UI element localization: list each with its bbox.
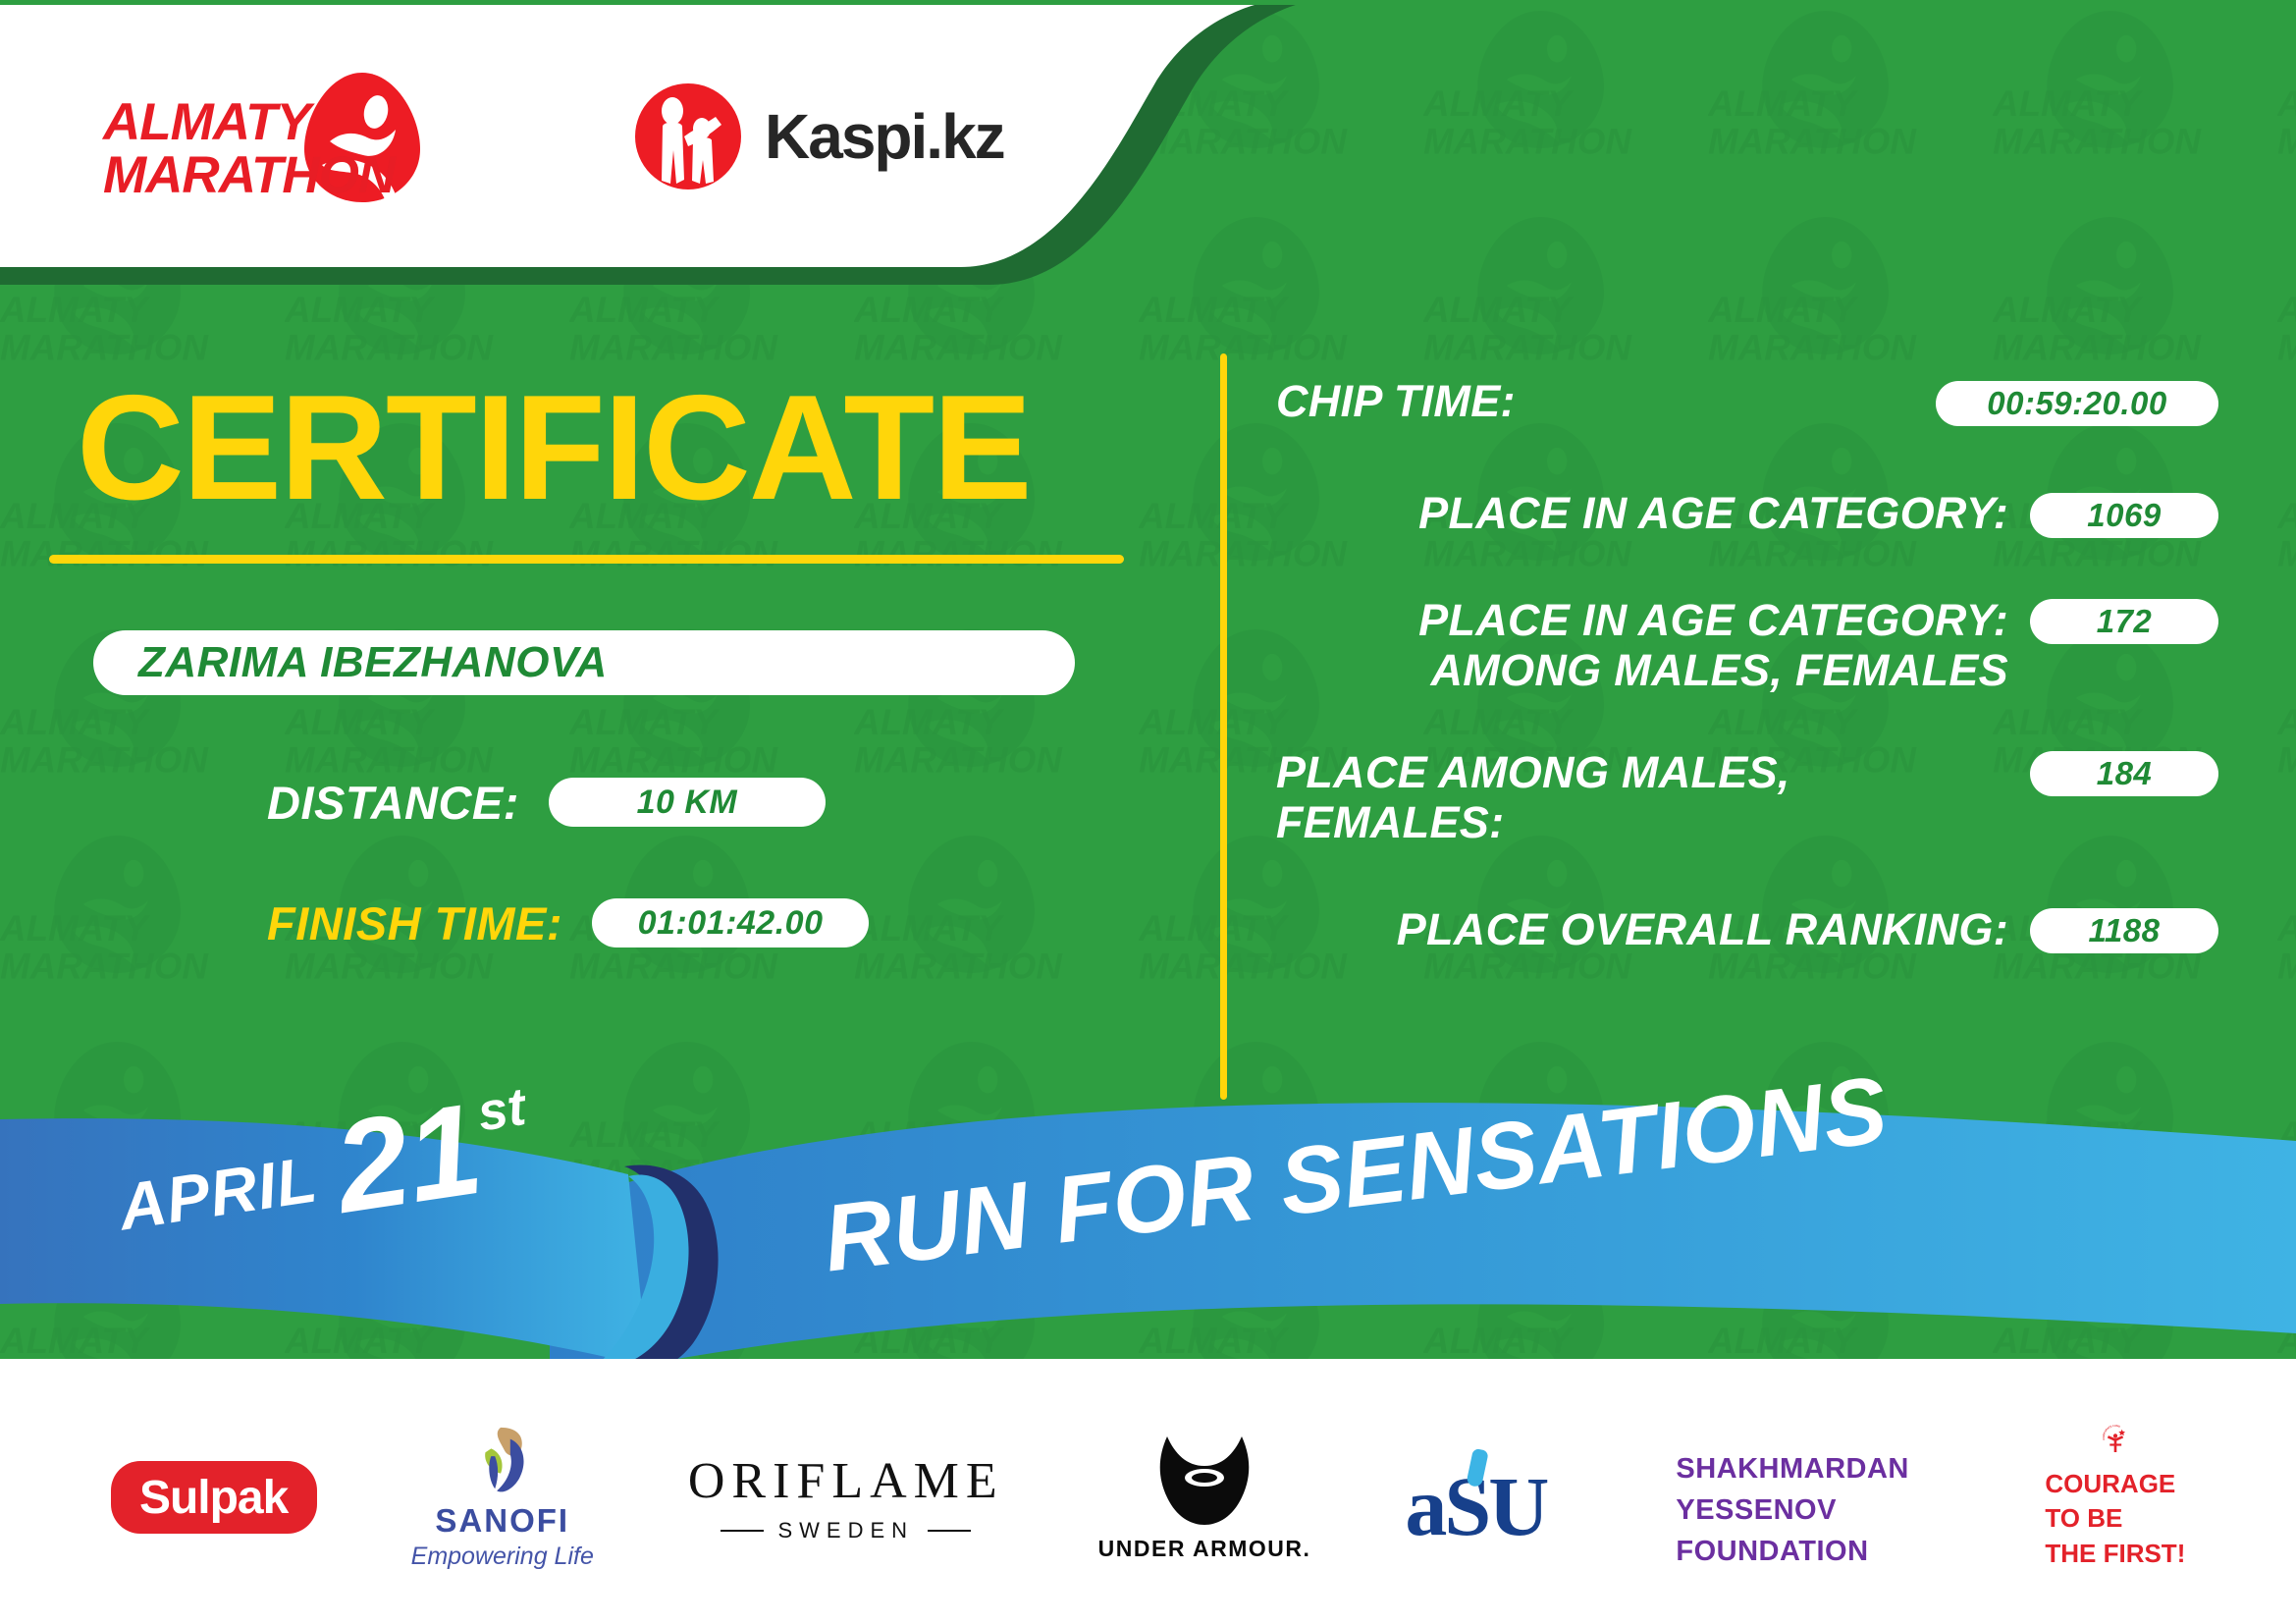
oriflame-sub: SWEDEN: [721, 1518, 971, 1543]
courage-fund-wordmark: COURAGE TO BE THE FIRST!: [2045, 1467, 2185, 1571]
finish-time-row: FINISH TIME: 01:01:42.00: [267, 896, 1158, 950]
stat-row-place-age-category-gender: PLACE IN AGE CATEGORY: AMONG MALES, FEMA…: [1276, 595, 2218, 696]
finish-time-value: 01:01:42.00: [592, 898, 869, 947]
marathon-line: MARATHON: [103, 149, 370, 202]
courage-line-1: COURAGE: [2045, 1467, 2185, 1501]
sponsor-sulpak: Sulpak: [111, 1424, 317, 1571]
rule-left: [721, 1530, 764, 1532]
sponsor-oriflame: ORIFLAME SWEDEN: [688, 1424, 1004, 1571]
stat-value: 184: [2030, 751, 2218, 796]
distance-value: 10 KM: [549, 778, 826, 827]
stat-row-chip-time: CHIP TIME: 00:59:20.00: [1276, 371, 2218, 432]
results-stats-list: CHIP TIME: 00:59:20.00 PLACE IN AGE CATE…: [1276, 371, 2218, 959]
kaspi-logo: Kaspi.kz: [633, 81, 1004, 191]
oriflame-wordmark: ORIFLAME: [688, 1452, 1004, 1510]
athlete-name-field: ZARIMA IBEZHANOVA: [93, 630, 1075, 695]
sulpak-logo: Sulpak: [111, 1461, 317, 1534]
courage-fund-logo: CORPORATE FUND: [2062, 1424, 2168, 1453]
sanofi-tagline: Empowering Life: [411, 1543, 594, 1571]
stat-label: PLACE AMONG MALES, FEMALES:: [1276, 747, 2030, 848]
sponsor-logos-row: Sulpak SANOFI Empowering Life ORIFLAME S…: [0, 1394, 2296, 1600]
courage-line-2: TO BE: [2045, 1501, 2185, 1536]
stat-label: PLACE IN AGE CATEGORY: AMONG MALES, FEMA…: [1276, 595, 2030, 696]
courage-line-3: THE FIRST!: [2045, 1537, 2185, 1571]
almaty-marathon-logo: ALMATY MARATHON: [103, 63, 447, 210]
stat-row-place-among-gender: PLACE AMONG MALES, FEMALES: 184: [1276, 747, 2218, 848]
column-divider: [1220, 353, 1227, 1100]
certificate-left-column: CERTIFICATE ZARIMA IBEZHANOVA DISTANCE: …: [0, 295, 1158, 950]
page-title: CERTIFICATE: [0, 295, 1158, 521]
almaty-line: ALMATY: [103, 96, 370, 149]
yessenov-wordmark: SHAKHMARDAN YESSENOV FOUNDATION: [1676, 1448, 1950, 1572]
stat-value: 1188: [2030, 908, 2218, 953]
under-armour-logo: [1149, 1433, 1259, 1527]
event-month: APRIL: [114, 1141, 322, 1244]
sanofi-logo: [467, 1424, 538, 1498]
under-armour-wordmark: UNDER ARMOUR.: [1098, 1536, 1311, 1562]
stat-value: 172: [2030, 599, 2218, 644]
rule-right: [928, 1530, 971, 1532]
event-day: 21: [329, 1095, 488, 1223]
distance-label: DISTANCE:: [267, 776, 519, 830]
sanofi-wordmark: SANOFI: [435, 1502, 569, 1540]
athlete-name: ZARIMA IBEZHANOVA: [138, 638, 608, 687]
title-divider: [49, 555, 1124, 564]
stat-label: PLACE OVERALL RANKING:: [1276, 904, 2030, 954]
stat-label: CHIP TIME:: [1276, 376, 1936, 426]
sponsor-yessenov-foundation: SHAKHMARDAN YESSENOV FOUNDATION: [1676, 1424, 1950, 1571]
almaty-marathon-wordmark: ALMATY MARATHON: [103, 96, 370, 202]
header-logos: ALMATY MARATHON Kaspi.kz: [0, 0, 1178, 273]
distance-row: DISTANCE: 10 KM: [267, 776, 1158, 830]
sponsor-courage-fund: CORPORATE FUND COURAGE TO BE THE FIRST!: [2045, 1424, 2185, 1571]
finish-time-label: FINISH TIME:: [267, 896, 562, 950]
stat-row-place-age-category: PLACE IN AGE CATEGORY: 1069: [1276, 483, 2218, 544]
sponsor-sanofi: SANOFI Empowering Life: [411, 1424, 594, 1571]
kaspi-people-icon: [633, 81, 743, 191]
kaspi-wordmark: Kaspi.kz: [765, 100, 1004, 173]
stat-row-place-overall: PLACE OVERALL RANKING: 1188: [1276, 898, 2218, 959]
stat-value: 00:59:20.00: [1936, 381, 2218, 426]
sponsor-asu: aSU: [1405, 1443, 1581, 1551]
event-day-suffix: st: [474, 1076, 530, 1143]
sponsor-under-armour: UNDER ARMOUR.: [1098, 1424, 1311, 1571]
oriflame-tagline: SWEDEN: [777, 1518, 914, 1543]
stat-label: PLACE IN AGE CATEGORY:: [1276, 488, 2030, 538]
stat-value: 1069: [2030, 493, 2218, 538]
